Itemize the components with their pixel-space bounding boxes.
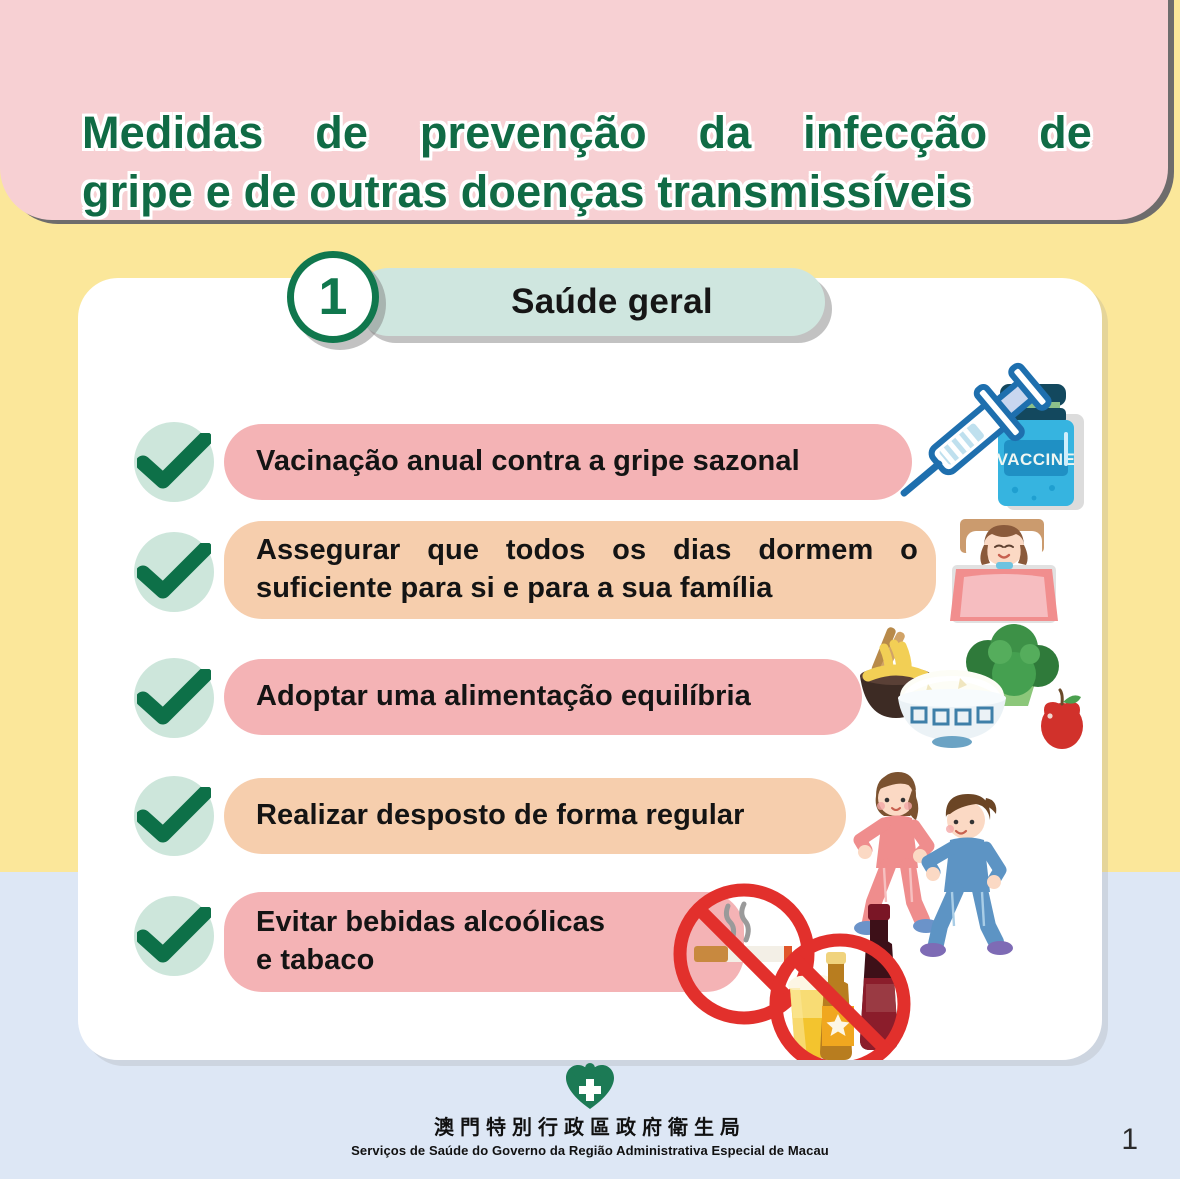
poster-root: Medidas de prevenção da infecção de grip… [0, 0, 1180, 1179]
heart-cross-family-logo [564, 1062, 616, 1110]
footer-chinese-name: 澳門特別行政區政府衛生局 [434, 1114, 746, 1140]
item-text-3: Adoptar uma alimentação equilíbria [224, 678, 769, 716]
check-icon-wrap-1 [128, 416, 220, 508]
rice-bowl-icon [898, 670, 1006, 748]
item-text-1: Vacinação anual contra a gripe sazonal [224, 443, 818, 481]
check-icon-wrap-4 [128, 770, 220, 862]
footer-portuguese-name: Serviços de Saúde do Governo da Região A… [351, 1143, 829, 1158]
item-pill-3: Adoptar uma alimentação equilíbria [224, 659, 862, 735]
check-icon-wrap-5 [128, 890, 220, 982]
sleeping-person-illustration [938, 513, 1070, 625]
poster-title-line-1: Medidas de prevenção da infecção de [82, 104, 1092, 163]
item-text-2: Assegurar que todos os dias dormem o suf… [224, 532, 936, 607]
item-pill-1: Vacinação anual contra a gripe sazonal [224, 424, 912, 500]
balanced-food-illustration [842, 618, 1090, 770]
vaccine-bottle-label: VACCINE [997, 450, 1076, 469]
item-text-5: Evitar bebidas alcoólicas e tabaco [224, 904, 623, 979]
check-icon [137, 543, 211, 601]
check-icon-wrap-2 [128, 526, 220, 618]
page-number: 1 [1121, 1123, 1138, 1157]
check-icon [137, 669, 211, 727]
check-icon [137, 433, 211, 491]
apple-icon [1041, 690, 1083, 749]
footer: 澳門特別行政區政府衛生局 Serviços de Saúde do Govern… [0, 1062, 1180, 1158]
item-text-4: Realizar desposto de forma regular [224, 797, 762, 835]
section-number-badge: 1 [287, 251, 379, 343]
item-pill-4: Realizar desposto de forma regular [224, 778, 846, 854]
check-icon [137, 787, 211, 845]
poster-title: Medidas de prevenção da infecção de grip… [82, 104, 1092, 221]
section-title: Saúde geral [355, 268, 825, 336]
check-icon [137, 907, 211, 965]
jogger-man [920, 794, 1013, 957]
poster-title-line-2: gripe e de outras doenças transmissíveis [82, 163, 1092, 222]
vaccine-syringe-illustration: VACCINE [900, 358, 1105, 518]
no-smoking-icon [680, 890, 808, 1018]
no-smoking-no-alcohol-illustration [672, 878, 932, 1060]
item-pill-5: Evitar bebidas alcoólicas e tabaco [224, 892, 744, 992]
check-icon-wrap-3 [128, 652, 220, 744]
item-pill-2: Assegurar que todos os dias dormem o suf… [224, 521, 936, 619]
